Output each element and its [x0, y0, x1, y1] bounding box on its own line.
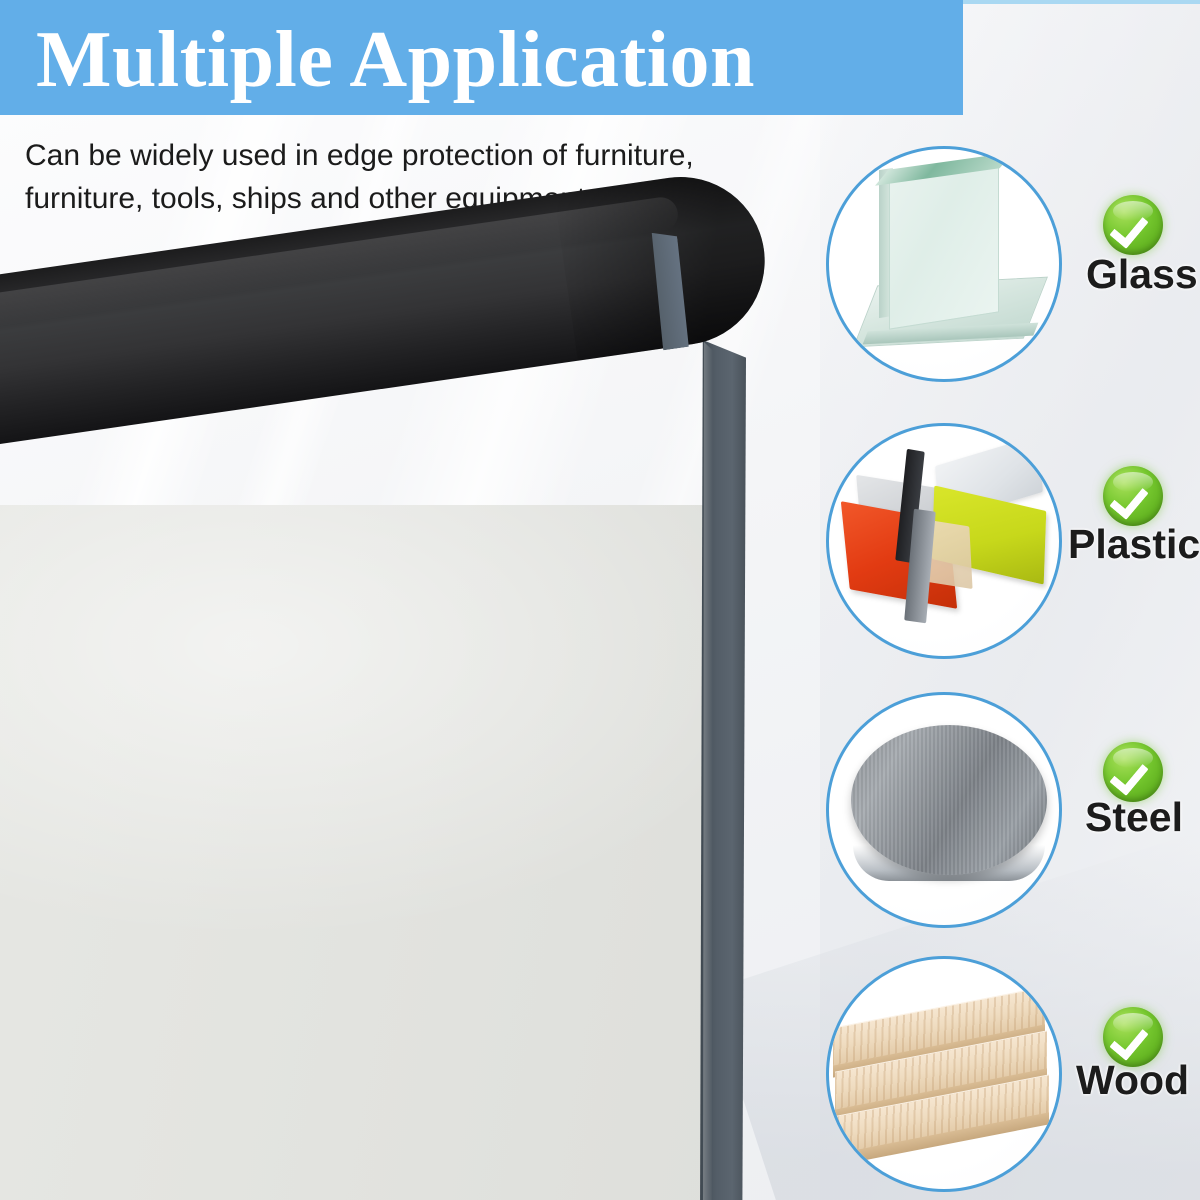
- product-hero-image: [0, 270, 820, 1200]
- material-label-wood: Wood: [1076, 1057, 1189, 1104]
- material-label-plastic: Plastic: [1068, 521, 1200, 568]
- panel-edge-highlight: [703, 342, 713, 1200]
- badge-gloss: [1113, 1013, 1153, 1033]
- top-accent-strip: [963, 0, 1200, 4]
- material-label-glass: Glass: [1086, 251, 1198, 298]
- badge-gloss: [1113, 748, 1153, 768]
- badge-gloss: [1113, 472, 1153, 492]
- header-banner: Multiple Application: [0, 0, 963, 115]
- glass-photo-circle: [826, 146, 1062, 382]
- check-badge-icon: [1103, 742, 1163, 802]
- steel-photo-circle: [826, 692, 1062, 928]
- infographic-page: Multiple Application Can be widely used …: [0, 0, 1200, 1200]
- panel-highlight: [0, 505, 735, 1200]
- plastic-photo-circle: [826, 423, 1062, 659]
- page-title: Multiple Application: [36, 4, 755, 116]
- badge-gloss: [1113, 201, 1153, 221]
- steel-brush-texture: [851, 725, 1047, 875]
- plywood-stack: [833, 1001, 1051, 1151]
- check-badge-icon: [1103, 195, 1163, 255]
- check-badge-icon: [1103, 466, 1163, 526]
- wood-photo-circle: [826, 956, 1062, 1192]
- glass-pane-shape: [889, 164, 999, 329]
- material-label-steel: Steel: [1085, 794, 1183, 841]
